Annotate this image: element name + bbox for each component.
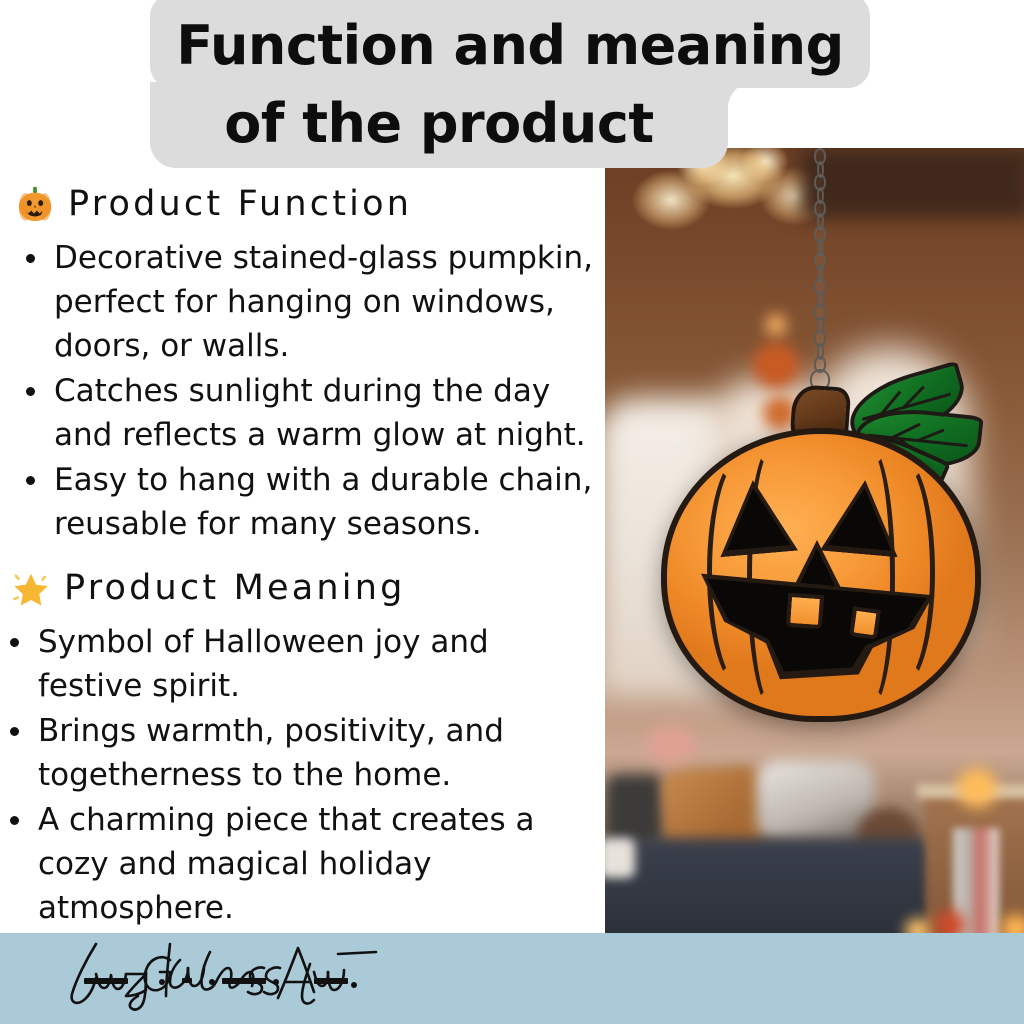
section-heading-product-function: Product Function: [16, 184, 412, 224]
stained-glass-pumpkin: [661, 428, 981, 722]
candle-bokeh-1: [957, 768, 997, 808]
glowing-star-icon: [12, 569, 50, 607]
product-photo: [605, 148, 1024, 1012]
bullet-item: Catches sunlight during the day and refl…: [16, 369, 600, 457]
bullet-item: Easy to hang with a durable chain, reusa…: [16, 458, 600, 546]
bullet-list-product-function: Decorative stained-glass pumpkin, perfec…: [16, 236, 600, 547]
pumpkin-tooth-right: [849, 606, 881, 640]
bullet-item: A charming piece that creates a cozy and…: [0, 798, 540, 930]
pumpkin-mouth: [701, 564, 933, 684]
jack-o-lantern-icon: [16, 185, 54, 223]
section-heading-label: Product Function: [68, 184, 412, 224]
bullet-item: Decorative stained-glass pumpkin, perfec…: [16, 236, 600, 368]
section-heading-product-meaning: Product Meaning: [12, 568, 406, 608]
page-title-line1: Function and meaning: [150, 4, 870, 88]
bullet-item: Brings warmth, positivity, and togethern…: [0, 709, 540, 797]
brand-script-mark: [52, 938, 382, 1016]
hanging-chain: [813, 148, 827, 394]
brand-logo: [52, 938, 392, 1018]
pumpkin-tooth-left: [786, 593, 824, 629]
orange-bokeh-1: [753, 342, 799, 388]
ceiling-beam-blur: [801, 148, 1024, 218]
bullet-list-product-meaning: Symbol of Halloween joy and festive spir…: [0, 620, 540, 931]
flower-blur: [645, 724, 697, 766]
orange-bokeh-3: [765, 314, 787, 336]
cup-blur: [605, 838, 635, 878]
pillow-dark: [605, 774, 665, 846]
content-column: Product Function Decorative stained-glas…: [0, 176, 600, 936]
section-heading-label: Product Meaning: [64, 568, 406, 608]
infographic-canvas: Function and meaning of the product Prod…: [0, 0, 1024, 1024]
page-title-line2: of the product: [150, 88, 728, 160]
bullet-item: Symbol of Halloween joy and festive spir…: [0, 620, 540, 708]
